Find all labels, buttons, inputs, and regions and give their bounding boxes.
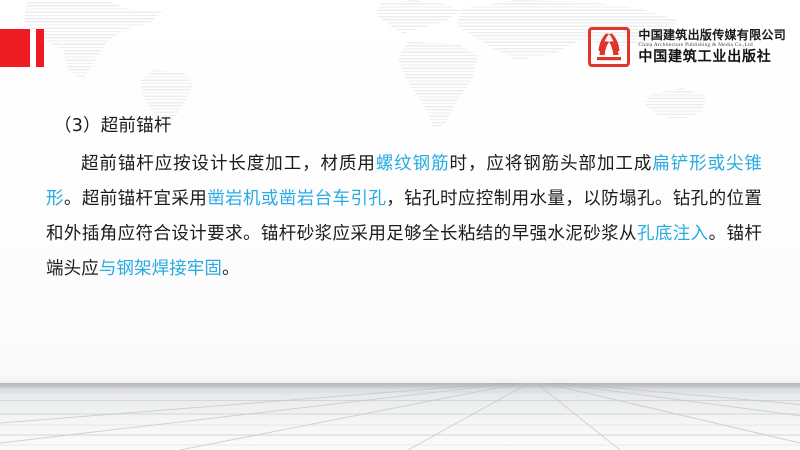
perspective-floor-grid bbox=[0, 383, 800, 450]
body-text: 。 bbox=[222, 259, 240, 279]
publisher-press-name-cn: 中国建筑工业出版社 bbox=[638, 50, 786, 65]
red-block-small bbox=[36, 29, 44, 67]
highlighted-text: 螺纹钢筋 bbox=[376, 154, 450, 174]
wall-base bbox=[0, 372, 800, 383]
publisher-logo-text: 中国建筑出版传媒有限公司 China Architecture Publishi… bbox=[638, 29, 786, 64]
floor-horizon-shadow bbox=[0, 383, 800, 390]
slide-content: （3）超前锚杆 超前锚杆应按设计长度加工，材质用螺纹钢筋时，应将钢筋头部加工成扁… bbox=[46, 112, 762, 287]
open-book-logo-icon bbox=[588, 26, 630, 68]
publisher-company-name-en: China Architecture Publishing & Media Co… bbox=[638, 43, 786, 49]
highlighted-text: 孔底注入 bbox=[637, 224, 709, 244]
body-text: 超前锚杆应按设计长度加工，材质用 bbox=[81, 154, 376, 174]
publisher-logo: 中国建筑出版传媒有限公司 China Architecture Publishi… bbox=[588, 26, 786, 68]
slide-paragraph: 超前锚杆应按设计长度加工，材质用螺纹钢筋时，应将钢筋头部加工成扁铲形或尖锥形。超… bbox=[46, 147, 762, 287]
map-continent-europe bbox=[372, 0, 464, 48]
slide-heading: （3）超前锚杆 bbox=[54, 112, 762, 137]
highlighted-text: 凿岩机或凿岩台车引孔 bbox=[207, 189, 386, 209]
highlighted-text: 与钢架焊接牢固 bbox=[99, 259, 222, 279]
body-text: 时，应将钢筋头部加工成 bbox=[450, 154, 653, 174]
presentation-slide: 中国建筑出版传媒有限公司 China Architecture Publishi… bbox=[0, 0, 800, 450]
publisher-company-name-cn: 中国建筑出版传媒有限公司 bbox=[638, 29, 786, 42]
body-text: 。超前锚杆宜采用 bbox=[64, 189, 207, 209]
red-block-large bbox=[0, 29, 30, 67]
